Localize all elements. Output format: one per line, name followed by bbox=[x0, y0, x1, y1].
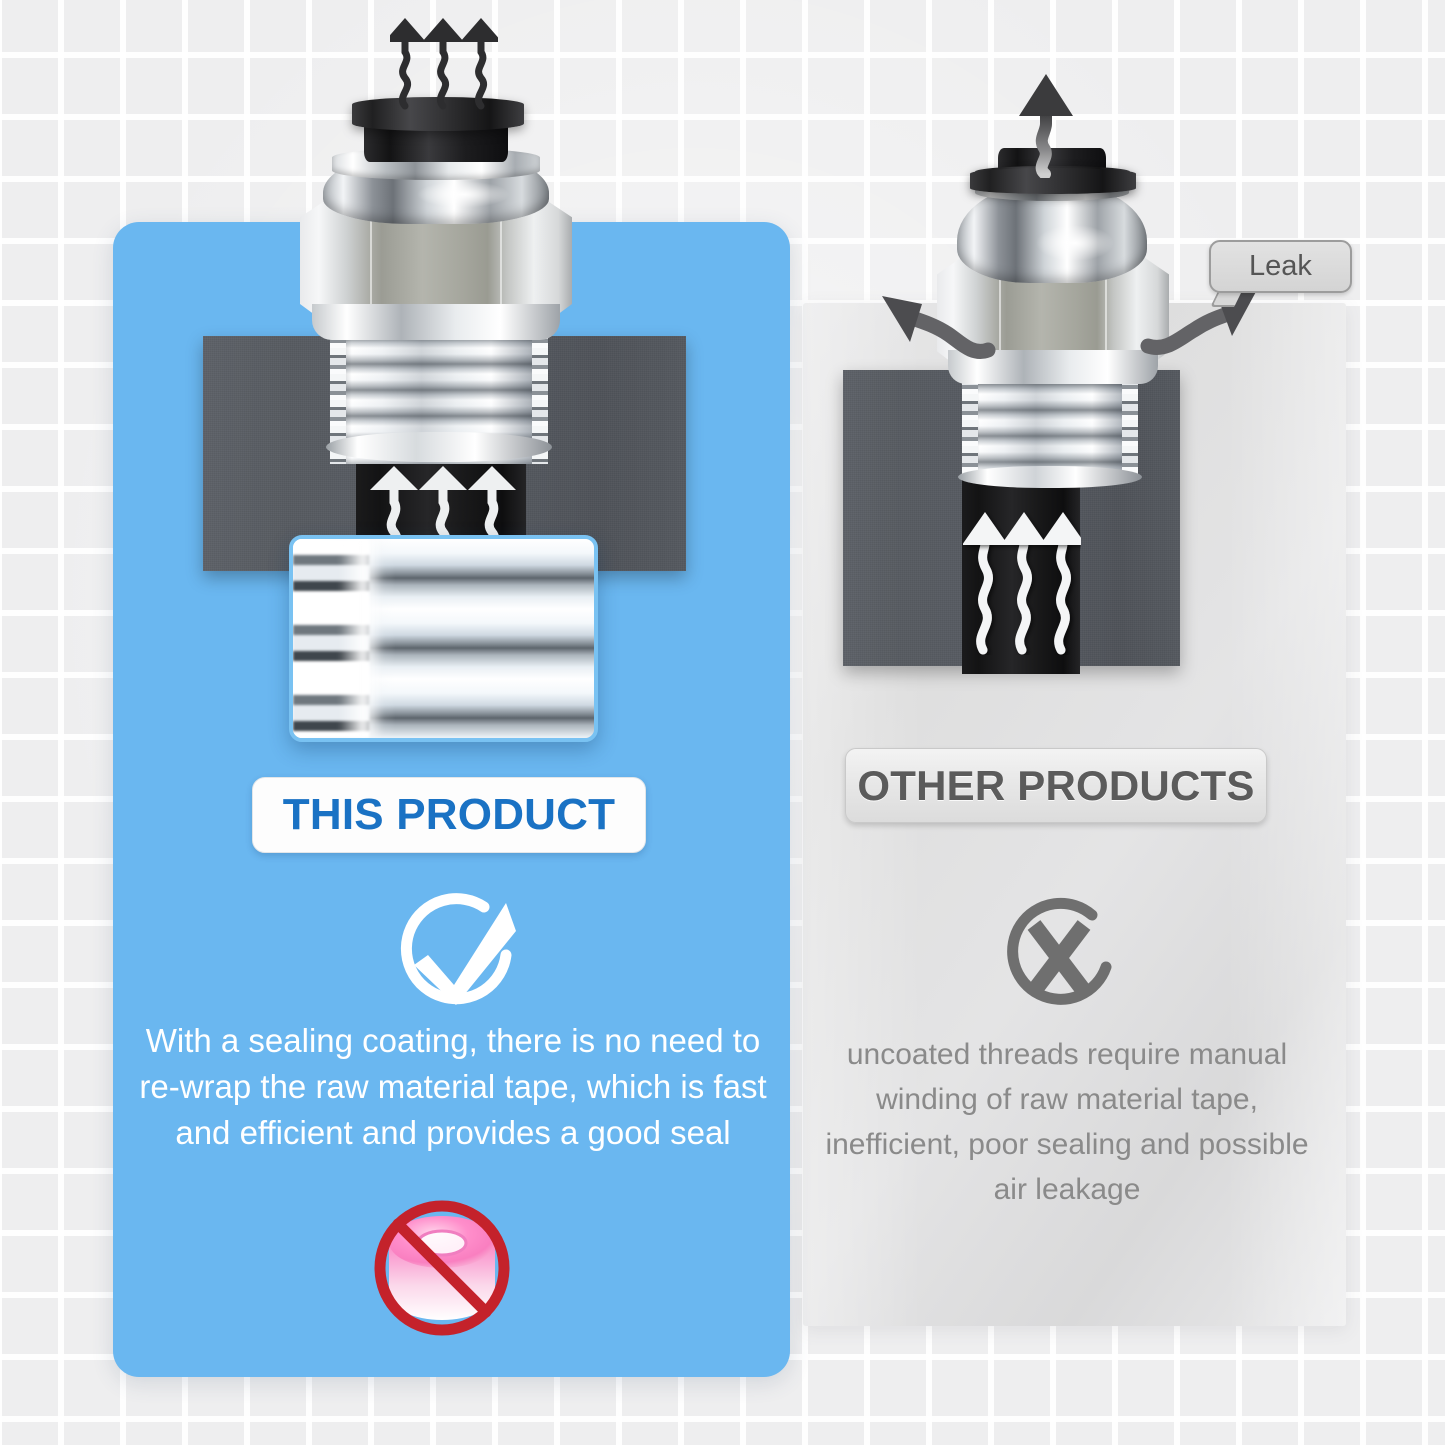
this-product-badge[interactable]: THIS PRODUCT bbox=[252, 777, 646, 853]
no-ptfe-tape-icon bbox=[349, 1196, 535, 1346]
right-tube-flow-arrows bbox=[963, 495, 1081, 655]
right-top-leak-arrow bbox=[1013, 70, 1093, 178]
right-threaded-barrel bbox=[962, 368, 1138, 480]
x-circle-icon bbox=[988, 893, 1128, 1015]
other-products-description: uncoated threads require manual winding … bbox=[812, 1032, 1322, 1212]
infographic-canvas: Leak OTHER PRODUCTS uncoated threads req… bbox=[0, 0, 1445, 1445]
this-product-description: With a sealing coating, there is no need… bbox=[128, 1018, 778, 1156]
left-thread-base-ring bbox=[326, 432, 552, 462]
coated-thread-detail-inset bbox=[289, 535, 598, 742]
leak-callout: Leak bbox=[1209, 240, 1352, 293]
check-circle-icon bbox=[388, 893, 530, 1017]
other-products-badge[interactable]: OTHER PRODUCTS bbox=[845, 748, 1267, 823]
right-leak-arrow-left bbox=[876, 280, 996, 366]
right-thread-base-ring bbox=[958, 466, 1142, 488]
left-nut-base-flare bbox=[312, 304, 560, 340]
left-top-flow-arrows bbox=[390, 12, 498, 110]
